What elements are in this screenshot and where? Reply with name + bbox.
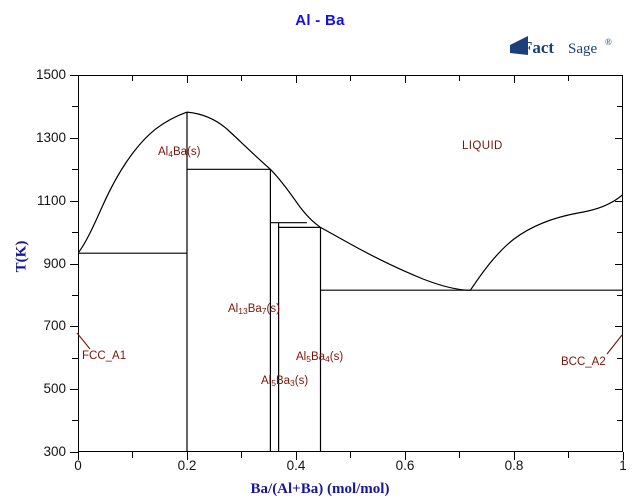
phase-diagram-plot [78, 75, 623, 452]
ytick-mark-right-800 [617, 295, 623, 296]
phase-label-al5ba4: Al5Ba4(s) [296, 351, 343, 363]
page-title: Al - Ba [0, 12, 640, 29]
ytick-mark-1300 [70, 138, 78, 139]
ytick-mark-right-1500 [615, 75, 623, 76]
formula-sub-al-count: 4 [168, 149, 173, 159]
xtick-mark-top-0.2 [187, 75, 188, 83]
formula-state: (s) [187, 146, 200, 158]
xtick-label-0.2: 0.2 [157, 458, 217, 473]
xtick-label-0.8: 0.8 [484, 458, 544, 473]
xtick-label-0.6: 0.6 [375, 458, 435, 473]
xtick-mark-top-0.4 [296, 75, 297, 83]
formula-state: (s) [267, 303, 280, 315]
ytick-mark-600 [72, 358, 78, 359]
xtick-mark-top-0.8 [514, 75, 515, 83]
ytick-mark-right-1100 [615, 201, 623, 202]
phase-label-al13ba7: Al13Ba7(s) [228, 303, 280, 315]
formula-state: (s) [330, 351, 343, 363]
logo-trademark-icon: ® [605, 37, 612, 47]
ytick-mark-right-600 [617, 358, 623, 359]
liquidus-curve-ba-rich [470, 195, 623, 291]
ytick-mark-300 [70, 452, 78, 453]
ytick-mark-900 [70, 264, 78, 265]
ytick-mark-right-1400 [617, 106, 623, 107]
ytick-mark-1500 [70, 75, 78, 76]
ytick-mark-1100 [70, 201, 78, 202]
xtick-mark-0.9 [568, 452, 569, 458]
ytick-mark-1400 [72, 106, 78, 107]
logo-text-sage: Sage [568, 41, 598, 57]
leader-line-fcc-a1 [76, 332, 98, 354]
ytick-mark-right-900 [615, 264, 623, 265]
x-axis-title: Ba/(Al+Ba) (mol/mol) [0, 481, 640, 498]
xtick-mark-top-0.9 [568, 75, 569, 81]
formula-al: Al [296, 351, 306, 363]
ytick-mark-1000 [72, 232, 78, 233]
ytick-label-500: 500 [6, 381, 66, 396]
ytick-mark-right-1200 [617, 169, 623, 170]
ytick-mark-800 [72, 295, 78, 296]
ytick-mark-right-1000 [617, 232, 623, 233]
liquidus-curve-al4ba-right [187, 112, 270, 169]
formula-ba: Ba [276, 375, 290, 387]
formula-sub-al-count: 5 [306, 354, 311, 364]
ytick-mark-500 [70, 389, 78, 390]
y-axis-title: T(K) [14, 227, 31, 287]
phase-label-al5ba3: Al5Ba3(s) [261, 375, 308, 387]
ytick-mark-right-400 [617, 420, 623, 421]
ytick-mark-right-500 [615, 389, 623, 390]
formula-sub-al-count: 5 [271, 378, 276, 388]
formula-ba: Ba [311, 351, 325, 363]
xtick-mark-top-0.6 [405, 75, 406, 83]
ytick-label-1500: 1500 [6, 67, 66, 82]
formula-al: Al [228, 303, 238, 315]
xtick-mark-0.7 [459, 452, 460, 458]
xtick-mark-0.5 [350, 452, 351, 458]
formula-sub-ba-count: 3 [290, 378, 295, 388]
ytick-label-700: 700 [6, 318, 66, 333]
ytick-mark-700 [70, 326, 78, 327]
xtick-mark-top-0.3 [241, 75, 242, 81]
ytick-mark-400 [72, 420, 78, 421]
leader-line-bcc-a2 [600, 334, 624, 358]
formula-sub-al-count: 13 [238, 306, 247, 316]
factsage-logo-svg: Fact Sage ® [508, 34, 618, 60]
xtick-label-0.4: 0.4 [266, 458, 326, 473]
factsage-logo: Fact Sage ® [508, 34, 618, 60]
logo-text-fact: Fact [522, 38, 554, 57]
formula-al: Al [261, 375, 271, 387]
ytick-label-300: 300 [6, 444, 66, 459]
formula-sub-ba-count: 7 [262, 306, 267, 316]
ytick-mark-right-1300 [615, 138, 623, 139]
ytick-label-1100: 1100 [6, 193, 66, 208]
ytick-mark-right-700 [615, 326, 623, 327]
ytick-mark-1200 [72, 169, 78, 170]
xtick-mark-top-0.5 [350, 75, 351, 81]
formula-state: (s) [295, 375, 308, 387]
xtick-mark-0.3 [241, 452, 242, 458]
phase-label-liquid: LIQUID [462, 140, 503, 152]
xtick-mark-top-0.7 [459, 75, 460, 81]
xtick-label-0: 0 [48, 458, 108, 473]
formula-sub-ba-count: 4 [325, 354, 330, 364]
liquidus-curve-al-rich [78, 112, 187, 253]
formula-al: Al [158, 146, 168, 158]
formula-ba: Ba [248, 303, 262, 315]
xtick-mark-top-0.1 [132, 75, 133, 81]
ytick-label-1300: 1300 [6, 130, 66, 145]
xtick-mark-0.1 [132, 452, 133, 458]
xtick-label-1: 1 [593, 458, 640, 473]
formula-ba: Ba [173, 146, 187, 158]
liquidus-curve-mid [270, 169, 470, 290]
phase-label-al4ba: Al4Ba(s) [158, 146, 200, 158]
phase-diagram-page: Al - Ba Fact Sage ® [0, 0, 640, 504]
